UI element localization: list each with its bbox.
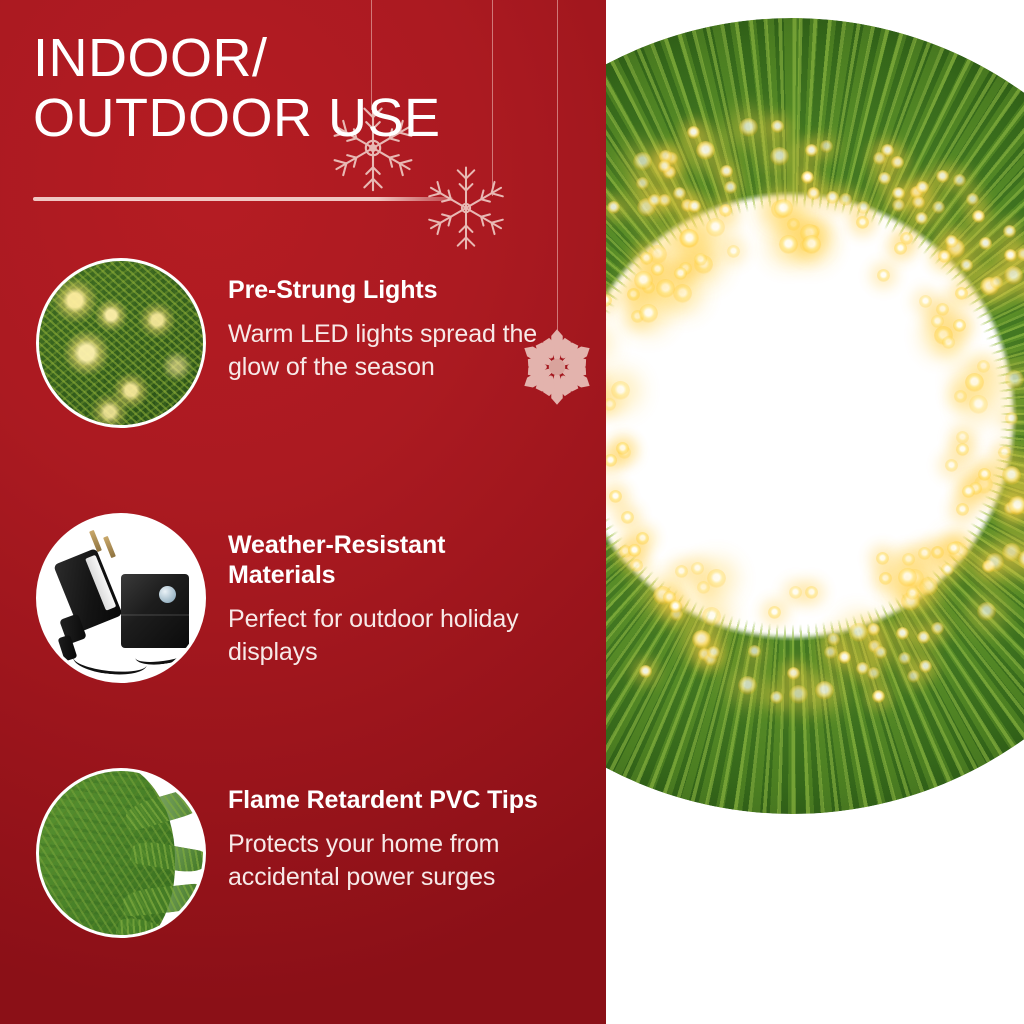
led-light <box>936 170 949 183</box>
led-light <box>630 559 643 572</box>
led-light <box>691 562 704 575</box>
thumbnail-wrap <box>36 258 206 428</box>
led-light <box>953 174 966 187</box>
plug-face <box>85 555 116 611</box>
led-light <box>867 667 880 680</box>
led-light <box>947 542 960 555</box>
led-light <box>789 685 808 704</box>
led-light <box>838 651 851 664</box>
feature-title: Pre-Strung Lights <box>228 275 558 305</box>
led-light <box>892 187 905 200</box>
feature-text: Pre-Strung Lights Warm LED lights spread… <box>228 258 558 384</box>
led-light <box>739 118 758 137</box>
feature-item-weather-resistant-materials: Weather-Resistant Materials Perfect for … <box>0 513 606 683</box>
led-light <box>962 485 975 498</box>
led-light <box>915 212 928 225</box>
led-light <box>932 201 945 214</box>
led-light <box>651 263 664 276</box>
led-light <box>954 390 967 403</box>
led-light <box>941 563 954 576</box>
led-light <box>955 287 968 300</box>
led-light <box>917 631 930 644</box>
feature-description: Warm LED lights spread the glow of the s… <box>228 318 558 384</box>
led-light <box>669 600 682 613</box>
led-light <box>1004 249 1017 262</box>
led-light <box>724 181 737 194</box>
led-light <box>692 630 711 649</box>
led-light <box>815 681 834 700</box>
led-light <box>640 252 653 265</box>
led-light <box>648 194 661 207</box>
led-light <box>771 120 784 133</box>
led-light <box>1005 370 1024 389</box>
led-light <box>696 141 715 160</box>
page-title-line-2: OUTDOOR USE <box>33 88 563 148</box>
pvc-tips-thumbnail <box>36 768 206 938</box>
led-light <box>956 431 969 444</box>
feature-description: Perfect for outdoor holiday displays <box>228 603 558 669</box>
feature-text: Flame Retardent PVC Tips Protects your h… <box>228 768 558 894</box>
led-light <box>707 646 720 659</box>
led-light <box>702 607 721 626</box>
led-light <box>867 623 880 636</box>
feature-text: Weather-Resistant Materials Perfect for … <box>228 513 558 669</box>
feature-description: Protects your home from accidental power… <box>228 828 558 894</box>
led-light <box>979 237 992 250</box>
led-light <box>898 652 911 665</box>
page-title: INDOOR/ OUTDOOR USE <box>33 28 563 148</box>
led-light <box>878 172 891 185</box>
led-light <box>674 267 687 280</box>
led-light <box>802 235 821 254</box>
led-light <box>1003 225 1016 238</box>
led-light <box>1008 496 1024 515</box>
led-light <box>1017 248 1024 261</box>
led-light <box>965 373 984 392</box>
transformer-seam <box>121 614 189 616</box>
led-light <box>606 398 616 411</box>
led-light <box>634 271 653 290</box>
led-light <box>874 646 887 659</box>
led-light <box>892 199 905 212</box>
lit-greenery-image <box>39 261 203 425</box>
lit-greenery-thumbnail <box>36 258 206 428</box>
light-sensor-icon <box>159 586 176 603</box>
led-light <box>931 546 944 559</box>
power-adapter-thumbnail <box>36 513 206 683</box>
led-light <box>906 587 919 600</box>
left-red-panel: INDOOR/ OUTDOOR USE Pre-Strung Lights Wa… <box>0 0 606 1024</box>
led-light <box>857 201 870 214</box>
feature-item-flame-retardent-pvc-tips: Flame Retardent PVC Tips Protects your h… <box>0 768 606 938</box>
led-light <box>953 319 966 332</box>
led-light <box>805 144 818 157</box>
transformer-box <box>121 574 189 648</box>
pvc-tips-image <box>39 771 203 935</box>
led-light <box>912 196 925 209</box>
led-light <box>633 152 652 171</box>
led-light <box>916 181 929 194</box>
feature-title: Flame Retardent PVC Tips <box>228 785 558 815</box>
led-light <box>919 295 932 308</box>
led-light <box>779 235 798 254</box>
led-light <box>627 288 640 301</box>
led-light <box>826 191 839 204</box>
led-light <box>636 177 649 190</box>
plug-prong-icon <box>103 536 116 558</box>
led-light <box>896 627 909 640</box>
lit-wreath-photo <box>606 0 1024 1024</box>
led-light <box>919 660 932 673</box>
feature-title: Weather-Resistant Materials <box>228 530 558 590</box>
led-light <box>977 602 996 621</box>
led-light <box>990 276 1003 289</box>
led-light <box>879 572 892 585</box>
led-light <box>820 140 833 153</box>
led-light <box>706 218 725 237</box>
led-light <box>872 690 885 703</box>
led-light <box>774 199 793 218</box>
led-light <box>956 503 969 516</box>
led-light <box>675 565 688 578</box>
led-light <box>607 201 620 214</box>
led-light <box>931 315 944 328</box>
led-light <box>658 160 671 173</box>
snowflake-outline-2 <box>420 162 512 254</box>
led-light <box>738 676 757 695</box>
feature-item-pre-strung-lights: Pre-Strung Lights Warm LED lights spread… <box>0 258 606 428</box>
led-light <box>898 568 917 587</box>
thumbnail-wrap <box>36 768 206 938</box>
thumbnail-wrap <box>36 513 206 683</box>
title-underline <box>33 197 453 201</box>
led-light <box>936 303 949 316</box>
infographic-canvas: INDOOR/ OUTDOOR USE Pre-Strung Lights Wa… <box>0 0 1024 1024</box>
led-light <box>639 304 658 323</box>
led-light <box>942 336 955 349</box>
led-light <box>673 284 692 303</box>
led-light <box>636 532 649 545</box>
page-title-line-1: INDOOR/ <box>33 28 563 88</box>
led-light <box>956 443 969 456</box>
led-light <box>977 360 990 373</box>
led-light <box>978 468 991 481</box>
power-adapter-image <box>39 516 203 680</box>
led-light <box>656 279 675 298</box>
